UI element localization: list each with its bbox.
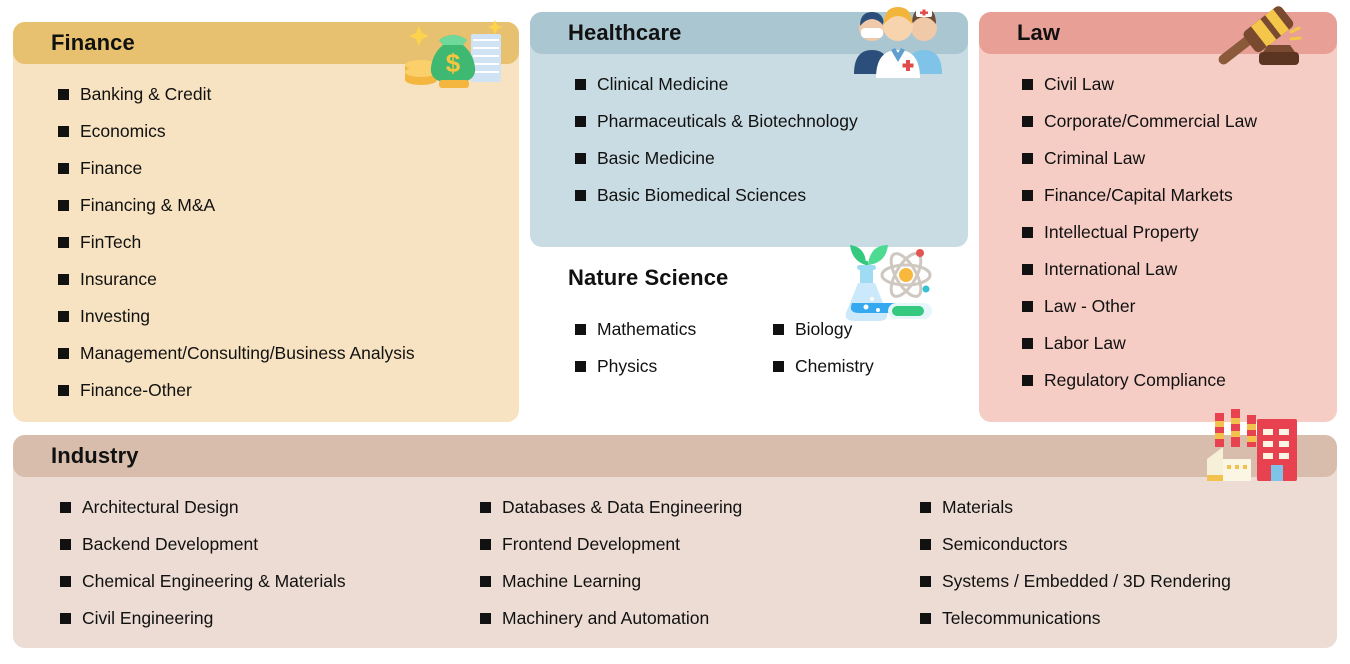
- list-item[interactable]: Mathematics: [575, 311, 773, 348]
- industry-item-list-3: Materials Semiconductors Systems / Embed…: [920, 489, 1231, 637]
- list-item[interactable]: Intellectual Property: [1022, 214, 1337, 251]
- card-body-finance: Banking & Credit Economics Finance Finan…: [13, 64, 519, 423]
- list-item[interactable]: Finance: [58, 150, 519, 187]
- square-bullet-icon: [480, 539, 491, 550]
- list-item[interactable]: Physics: [575, 348, 773, 385]
- square-bullet-icon: [1022, 375, 1033, 386]
- square-bullet-icon: [58, 126, 69, 137]
- list-item[interactable]: Corporate/Commercial Law: [1022, 103, 1337, 140]
- list-item[interactable]: Finance-Other: [58, 372, 519, 409]
- square-bullet-icon: [58, 89, 69, 100]
- square-bullet-icon: [773, 324, 784, 335]
- square-bullet-icon: [1022, 190, 1033, 201]
- list-item[interactable]: Investing: [58, 298, 519, 335]
- list-item[interactable]: Chemistry: [773, 348, 874, 385]
- square-bullet-icon: [920, 502, 931, 513]
- nature-science-columns: Mathematics Physics Biology Chemistry: [530, 311, 968, 385]
- card-header-law: Law: [979, 12, 1337, 54]
- square-bullet-icon: [1022, 301, 1033, 312]
- square-bullet-icon: [480, 502, 491, 513]
- card-header-healthcare: Healthcare: [530, 12, 968, 54]
- industry-column-2: Databases & Data Engineering Frontend De…: [480, 489, 920, 637]
- card-body-nature-science: Mathematics Physics Biology Chemistry: [530, 299, 968, 399]
- healthcare-item-list: Clinical Medicine Pharmaceuticals & Biot…: [530, 66, 968, 214]
- list-item[interactable]: Insurance: [58, 261, 519, 298]
- list-item[interactable]: International Law: [1022, 251, 1337, 288]
- card-title-law: Law: [1017, 22, 1060, 44]
- list-item[interactable]: Financing & M&A: [58, 187, 519, 224]
- list-item[interactable]: Architectural Design: [60, 489, 480, 526]
- list-item[interactable]: Banking & Credit: [58, 76, 519, 113]
- square-bullet-icon: [58, 385, 69, 396]
- list-item[interactable]: Databases & Data Engineering: [480, 489, 920, 526]
- square-bullet-icon: [575, 153, 586, 164]
- list-item[interactable]: Labor Law: [1022, 325, 1337, 362]
- list-item[interactable]: Backend Development: [60, 526, 480, 563]
- square-bullet-icon: [1022, 264, 1033, 275]
- list-item[interactable]: Machine Learning: [480, 563, 920, 600]
- list-item[interactable]: Frontend Development: [480, 526, 920, 563]
- square-bullet-icon: [60, 576, 71, 587]
- square-bullet-icon: [575, 79, 586, 90]
- square-bullet-icon: [480, 576, 491, 587]
- square-bullet-icon: [575, 116, 586, 127]
- square-bullet-icon: [1022, 153, 1033, 164]
- square-bullet-icon: [58, 163, 69, 174]
- nature-science-column-2: Biology Chemistry: [773, 311, 874, 385]
- list-item[interactable]: FinTech: [58, 224, 519, 261]
- industry-item-list-1: Architectural Design Backend Development…: [60, 489, 480, 637]
- law-item-list: Civil Law Corporate/Commercial Law Crimi…: [979, 66, 1337, 399]
- square-bullet-icon: [480, 613, 491, 624]
- card-header-finance: Finance: [13, 22, 519, 64]
- list-item[interactable]: Economics: [58, 113, 519, 150]
- card-title-healthcare: Healthcare: [568, 22, 682, 44]
- square-bullet-icon: [58, 348, 69, 359]
- nature-science-column-1: Mathematics Physics: [575, 311, 773, 385]
- list-item[interactable]: Criminal Law: [1022, 140, 1337, 177]
- list-item[interactable]: Civil Law: [1022, 66, 1337, 103]
- square-bullet-icon: [58, 200, 69, 211]
- industry-item-list-2: Databases & Data Engineering Frontend De…: [480, 489, 920, 637]
- square-bullet-icon: [920, 613, 931, 624]
- square-bullet-icon: [920, 539, 931, 550]
- list-item[interactable]: Basic Medicine: [575, 140, 968, 177]
- square-bullet-icon: [60, 539, 71, 550]
- industry-column-3: Materials Semiconductors Systems / Embed…: [920, 489, 1231, 637]
- card-body-healthcare: Clinical Medicine Pharmaceuticals & Biot…: [530, 54, 968, 228]
- square-bullet-icon: [773, 361, 784, 372]
- list-item[interactable]: Basic Biomedical Sciences: [575, 177, 968, 214]
- category-card-finance[interactable]: Finance: [13, 22, 519, 422]
- square-bullet-icon: [575, 190, 586, 201]
- square-bullet-icon: [60, 613, 71, 624]
- card-title-industry: Industry: [51, 445, 139, 467]
- list-item[interactable]: Pharmaceuticals & Biotechnology: [575, 103, 968, 140]
- list-item[interactable]: Law - Other: [1022, 288, 1337, 325]
- square-bullet-icon: [58, 274, 69, 285]
- card-body-law: Civil Law Corporate/Commercial Law Crimi…: [979, 54, 1337, 413]
- list-item[interactable]: Materials: [920, 489, 1231, 526]
- card-header-industry: Industry: [13, 435, 1337, 477]
- category-card-nature-science[interactable]: Nature Science: [530, 257, 968, 422]
- square-bullet-icon: [1022, 338, 1033, 349]
- nature-science-item-list-2: Biology Chemistry: [773, 311, 874, 385]
- square-bullet-icon: [920, 576, 931, 587]
- list-item[interactable]: Clinical Medicine: [575, 66, 968, 103]
- square-bullet-icon: [60, 502, 71, 513]
- category-card-law[interactable]: Law: [979, 12, 1337, 422]
- card-title-finance: Finance: [51, 32, 135, 54]
- card-header-nature-science: Nature Science: [530, 257, 968, 299]
- industry-columns: Architectural Design Backend Development…: [13, 489, 1337, 637]
- category-card-healthcare[interactable]: Healthcare: [530, 12, 968, 247]
- square-bullet-icon: [575, 324, 586, 335]
- list-item[interactable]: Chemical Engineering & Materials: [60, 563, 480, 600]
- card-body-industry: Architectural Design Backend Development…: [13, 477, 1337, 651]
- square-bullet-icon: [1022, 116, 1033, 127]
- list-item[interactable]: Machinery and Automation: [480, 600, 920, 637]
- list-item[interactable]: Civil Engineering: [60, 600, 480, 637]
- square-bullet-icon: [1022, 227, 1033, 238]
- nature-science-item-list-1: Mathematics Physics: [575, 311, 773, 385]
- list-item[interactable]: Management/Consulting/Business Analysis: [58, 335, 519, 372]
- list-item[interactable]: Regulatory Compliance: [1022, 362, 1337, 399]
- list-item[interactable]: Finance/Capital Markets: [1022, 177, 1337, 214]
- list-item[interactable]: Biology: [773, 311, 874, 348]
- list-item[interactable]: Telecommunications: [920, 600, 1231, 637]
- category-card-industry[interactable]: Industry: [13, 435, 1337, 648]
- square-bullet-icon: [58, 311, 69, 322]
- card-title-nature-science: Nature Science: [568, 267, 728, 289]
- industry-column-1: Architectural Design Backend Development…: [60, 489, 480, 637]
- finance-item-list: Banking & Credit Economics Finance Finan…: [13, 76, 519, 409]
- list-item[interactable]: Semiconductors: [920, 526, 1231, 563]
- square-bullet-icon: [575, 361, 586, 372]
- list-item[interactable]: Systems / Embedded / 3D Rendering: [920, 563, 1231, 600]
- square-bullet-icon: [1022, 79, 1033, 90]
- category-taxonomy-board: Finance: [0, 0, 1350, 664]
- square-bullet-icon: [58, 237, 69, 248]
